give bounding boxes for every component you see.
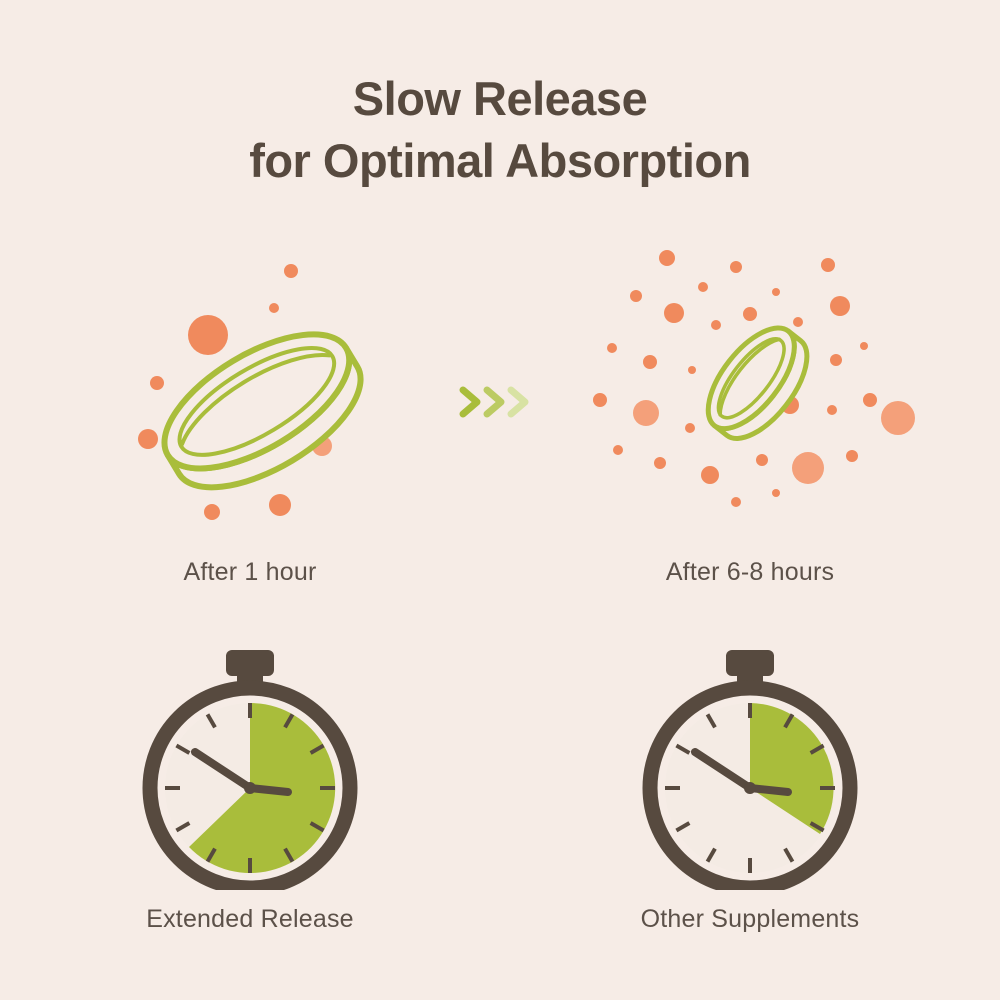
stopwatch-icon (540, 640, 960, 890)
tablet-after-6-8-hours-illustration (540, 250, 960, 540)
triple-chevron-right-icon (455, 382, 545, 422)
extended-release-illustration (40, 640, 460, 890)
title-line-2: for Optimal Absorption (0, 130, 1000, 192)
caption-extended-release: Extended Release (40, 905, 460, 934)
progression-arrows (455, 382, 545, 422)
caption-other-supplements: Other Supplements (540, 905, 960, 934)
infographic-canvas: Slow Release for Optimal Absorption (0, 0, 1000, 1000)
title-line-1: Slow Release (0, 68, 1000, 130)
intact-tablet-icon (40, 250, 460, 540)
caption-after-6-8-hours: After 6-8 hours (540, 558, 960, 587)
page-title: Slow Release for Optimal Absorption (0, 68, 1000, 192)
other-supplements-illustration (540, 640, 960, 890)
caption-after-1-hour: After 1 hour (40, 558, 460, 587)
dissolving-tablet-icon (540, 250, 960, 540)
stopwatch-icon (40, 640, 460, 890)
tablet-after-1-hour-illustration (40, 250, 460, 540)
